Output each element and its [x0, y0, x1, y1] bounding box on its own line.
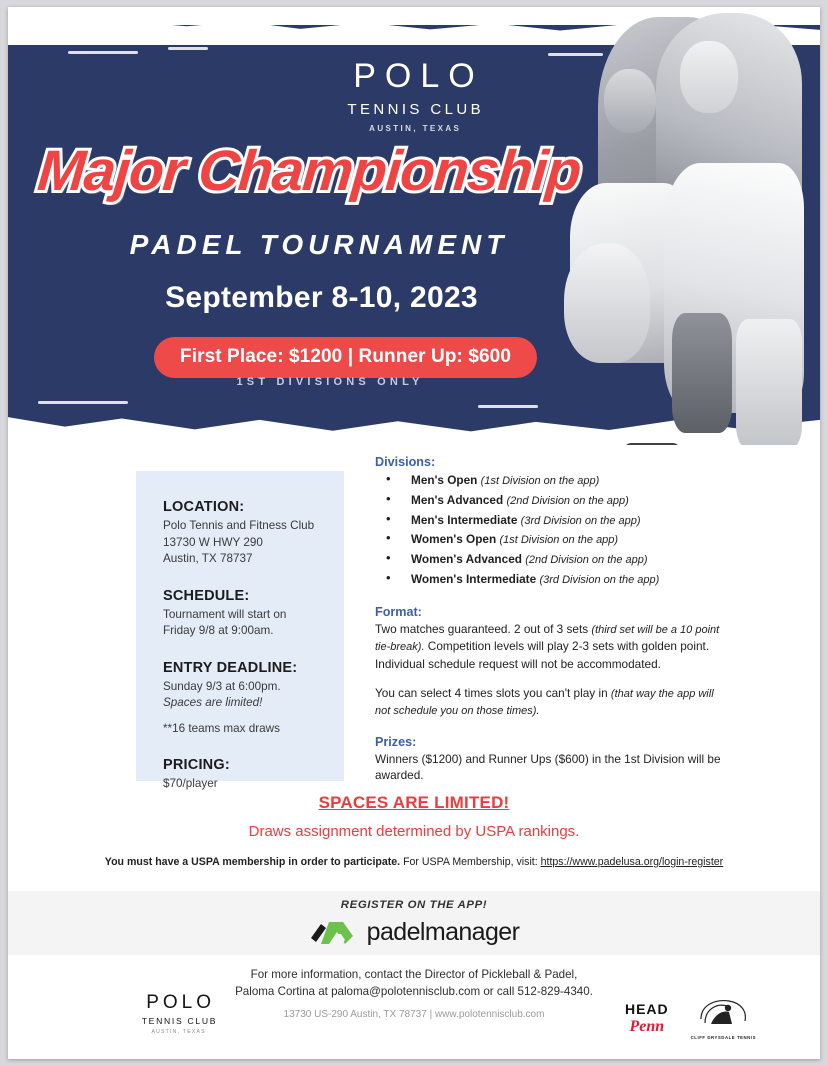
location-line-3: Austin, TX 78737: [163, 551, 344, 568]
division-name: Men's Advanced: [411, 493, 503, 507]
hero-banner: POLO TENNIS CLUB AUSTIN, TEXAS Major Cha…: [8, 7, 820, 445]
padelmanager-wordmark: padelmanager: [367, 918, 520, 947]
head-wordmark: HEAD: [625, 1001, 669, 1017]
schedule-line-2: Friday 9/8 at 9:00am.: [163, 623, 344, 640]
division-name: Women's Advanced: [411, 552, 522, 566]
division-name: Women's Open: [411, 532, 496, 546]
deadline-line-2: Spaces are limited!: [163, 695, 344, 712]
divisions-heading: Divisions:: [375, 455, 727, 469]
uspa-membership-link[interactable]: https://www.padelusa.org/login-register: [541, 856, 724, 868]
divisions-only-note: 1ST DIVISIONS ONLY: [154, 376, 506, 388]
pricing-value: $70/player: [163, 776, 344, 793]
padelmanager-logo[interactable]: padelmanager: [309, 918, 520, 948]
deadline-line-1: Sunday 9/3 at 6:00pm.: [163, 679, 344, 696]
division-note: (2nd Division on the app): [506, 495, 628, 507]
cliff-drysdale-logo: CLIFF DRYSDALE TENNIS: [691, 997, 756, 1040]
polo-logo-hero: POLO TENNIS CLUB AUSTIN, TEXAS: [8, 59, 820, 133]
head-penn-logo: HEAD Penn: [625, 1001, 669, 1036]
sponsor-logos: HEAD Penn CLIFF DRYSDALE TENNIS: [625, 997, 756, 1040]
details-column: Divisions: Men's Open (1st Division on t…: [375, 455, 727, 784]
division-note: (3rd Division on the app): [539, 574, 659, 586]
brush-speck: [38, 401, 128, 404]
spaces-limited-headline: SPACES ARE LIMITED!: [8, 793, 820, 813]
divisions-list: Men's Open (1st Division on the app) Men…: [375, 471, 727, 590]
polo-logo-name: POLO: [8, 59, 820, 93]
info-card: LOCATION: Polo Tennis and Fitness Club 1…: [136, 471, 344, 781]
location-heading: LOCATION:: [163, 499, 344, 515]
register-on-app-label: REGISTER ON THE APP!: [341, 899, 487, 911]
division-name: Women's Intermediate: [411, 572, 536, 586]
flyer-page: POLO TENNIS CLUB AUSTIN, TEXAS Major Cha…: [8, 7, 820, 1059]
contact-line-1: For more information, contact the Direct…: [8, 967, 820, 984]
tennis-player-icon: [695, 997, 751, 1029]
location-line-1: Polo Tennis and Fitness Club: [163, 518, 344, 535]
deadline-note: **16 teams max draws: [163, 721, 344, 738]
uspa-membership-line: You must have a USPA membership in order…: [8, 856, 820, 868]
list-item: Men's Intermediate (3rd Division on the …: [375, 511, 727, 531]
page-subtitle: PADEL TOURNAMENT: [8, 229, 820, 261]
page-footer: For more information, contact the Direct…: [8, 967, 820, 1059]
brush-speck: [478, 405, 538, 408]
list-item: Men's Open (1st Division on the app): [375, 471, 727, 491]
uspa-rest-text: For USPA Membership, visit:: [400, 856, 541, 868]
footer-logo-sub: TENNIS CLUB: [140, 1016, 217, 1026]
page-title: Major Championship: [36, 143, 583, 200]
brush-speck: [68, 51, 138, 54]
division-name: Men's Open: [411, 473, 477, 487]
penn-wordmark: Penn: [625, 1018, 669, 1036]
limited-callout: SPACES ARE LIMITED! Draws assignment det…: [8, 793, 820, 868]
format-paragraph-1: Two matches guaranteed. 2 out of 3 sets …: [375, 621, 727, 672]
format-p1-a: Two matches guaranteed. 2 out of 3 sets: [375, 622, 591, 636]
division-name: Men's Intermediate: [411, 513, 517, 527]
brush-speck: [168, 47, 208, 50]
event-dates: September 8-10, 2023: [8, 281, 820, 315]
prizes-heading: Prizes:: [375, 735, 727, 749]
list-item: Women's Advanced (2nd Division on the ap…: [375, 550, 727, 570]
schedule-line-1: Tournament will start on: [163, 607, 344, 624]
division-note: (1st Division on the app): [499, 534, 618, 546]
cliff-drysdale-caption: CLIFF DRYSDALE TENNIS: [691, 1035, 756, 1040]
pricing-heading: PRICING:: [163, 757, 344, 773]
prizes-text: Winners ($1200) and Runner Ups ($600) in…: [375, 751, 727, 784]
deadline-heading: ENTRY DEADLINE:: [163, 660, 344, 676]
division-note: (1st Division on the app): [481, 475, 600, 487]
footer-logo-city: AUSTIN, TEXAS: [140, 1029, 217, 1035]
footer-logo-name: POLO: [140, 993, 217, 1012]
format-paragraph-2: You can select 4 times slots you can't p…: [375, 685, 727, 720]
schedule-heading: SCHEDULE:: [163, 588, 344, 604]
padelmanager-mark-icon: [309, 918, 357, 948]
division-note: (2nd Division on the app): [525, 554, 647, 566]
division-note: (3rd Division on the app): [521, 515, 641, 527]
location-line-2: 13730 W HWY 290: [163, 535, 344, 552]
uspa-bold-text: You must have a USPA membership in order…: [105, 856, 400, 868]
format-heading: Format:: [375, 605, 727, 619]
polo-logo-footer: POLO TENNIS CLUB AUSTIN, TEXAS: [140, 993, 217, 1035]
draws-assignment-note: Draws assignment determined by USPA rank…: [8, 823, 820, 840]
register-app-band: REGISTER ON THE APP! padelmanager: [8, 891, 820, 955]
polo-logo-city: AUSTIN, TEXAS: [8, 124, 820, 133]
prize-badge: First Place: $1200 | Runner Up: $600: [154, 337, 537, 378]
format-p2-a: You can select 4 times slots you can't p…: [375, 686, 611, 700]
format-p1-b: Competition levels will play 2-3 sets wi…: [375, 639, 709, 670]
polo-logo-sub: TENNIS CLUB: [8, 101, 820, 118]
list-item: Women's Open (1st Division on the app): [375, 530, 727, 550]
list-item: Women's Intermediate (3rd Division on th…: [375, 570, 727, 590]
list-item: Men's Advanced (2nd Division on the app): [375, 491, 727, 511]
